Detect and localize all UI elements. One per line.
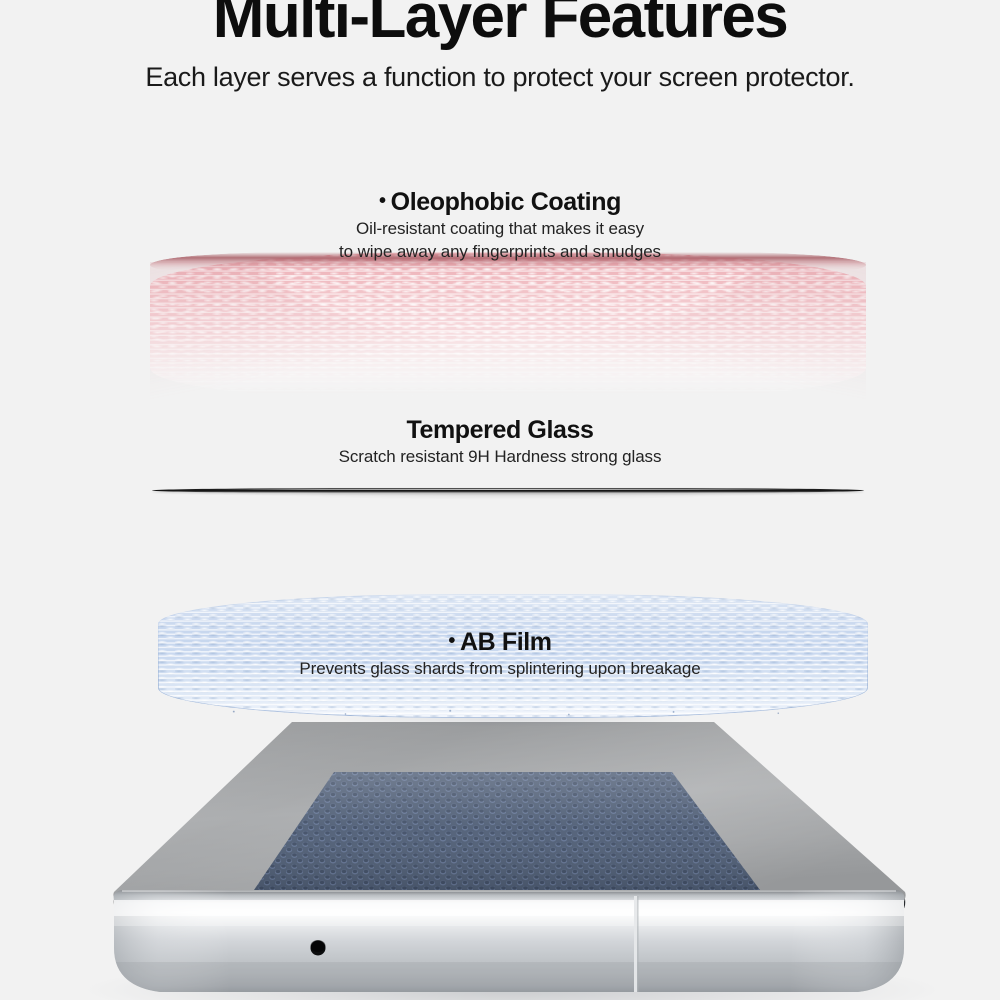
caption-tempered-glass: Tempered Glass Scratch resistant 9H Hard…	[0, 415, 1000, 468]
frame-specular-band	[110, 900, 910, 916]
layer-desc-tempered-glass: Scratch resistant 9H Hardness strong gla…	[0, 445, 1000, 468]
layer-desc-ab-film: Prevents glass shards from splintering u…	[0, 657, 1000, 680]
layer-title-tempered-glass: Tempered Glass	[0, 415, 1000, 445]
page-subtitle: Each layer serves a function to protect …	[0, 46, 1000, 93]
page-title: Multi-Layer Features	[0, 0, 1000, 46]
adhesive-patch-shading	[254, 772, 760, 896]
tempered-glass-shadow	[152, 493, 864, 503]
bullet-icon: •	[379, 190, 386, 212]
device-bottom-frame	[110, 888, 910, 998]
layer-title-text: Oleophobic Coating	[391, 188, 621, 216]
layer-title-oleophobic-coating: •Oleophobic Coating	[0, 186, 1000, 217]
layer-desc-oleophobic-line1: Oil-resistant coating that makes it easy	[0, 217, 1000, 240]
caption-ab-film: •AB Film Prevents glass shards from spli…	[0, 626, 1000, 680]
bullet-icon: •	[448, 630, 455, 652]
adhesive-patch-group	[254, 772, 760, 896]
tempered-glass-highlight	[212, 489, 812, 491]
layer-title-ab-film: •AB Film	[0, 626, 1000, 657]
caption-oleophobic-coating: •Oleophobic Coating Oil-resistant coatin…	[0, 186, 1000, 263]
layer-desc-oleophobic-line2: to wipe away any fingerprints and smudge…	[0, 240, 1000, 263]
device-screen-face	[114, 722, 905, 915]
infographic-canvas: Multi-Layer Features Each layer serves a…	[0, 0, 1000, 1000]
layer-sheet-tempered-glass	[152, 484, 864, 498]
layer-title-text: AB Film	[460, 628, 552, 656]
header: Multi-Layer Features Each layer serves a…	[0, 0, 1000, 93]
antenna-band-line	[634, 896, 637, 996]
